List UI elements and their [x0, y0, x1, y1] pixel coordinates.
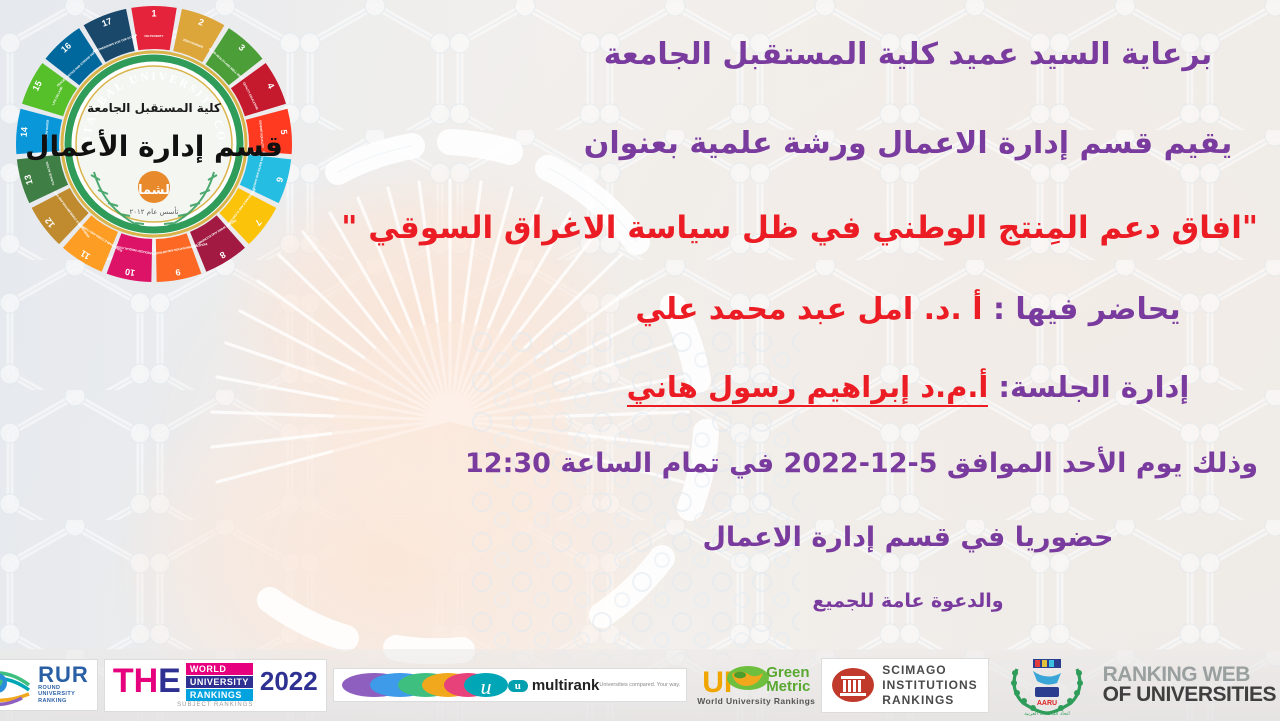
logo-scimago-institutions-rankings: SCIMAGO INSTITUTIONS RANKINGS: [821, 658, 988, 713]
sponsor-line: برعاية السيد عميد كلية المستقبل الجامعة: [558, 38, 1258, 73]
organizer-line: يقيم قسم إدارة الاعمال ورشة علمية بعنوان: [558, 127, 1258, 162]
multirank-subtitle: Universities compared. Your way.: [599, 682, 680, 688]
sdg-goal-number-1: 1: [151, 9, 156, 19]
poster-canvas: 1NO POVERTY2ZERO HUNGER3GOOD HEALTH AND …: [0, 0, 1280, 721]
logo-college-name-ar: كلية المستقبل الجامعة: [87, 101, 221, 115]
logo-founded-ar: تأسس عام ٢٠١٢: [129, 206, 178, 216]
lecturer-name: أ .د. امل عبد محمد علي: [635, 292, 982, 327]
rur-eye-globe-icon: [0, 663, 32, 707]
logo-round-university-ranking: RUR ROUND UNIVERSITY RANKING: [0, 659, 98, 711]
greenmetric-metric: Metric: [766, 680, 810, 694]
the-rank-word-2: UNIVERSITY: [186, 676, 253, 688]
ranking-logos-footer: RANKING WEB OF UNIVERSITIES: [0, 649, 1280, 721]
the-rank-word-3: RANKINGS: [186, 689, 253, 701]
logo-department-ar: قسم إدارة الأعمال: [25, 129, 283, 164]
the-letter-t: T: [113, 667, 134, 696]
greenmetric-subtitle: World University Rankings: [697, 696, 815, 706]
scimago-line1: SCIMAGO: [882, 663, 977, 678]
the-letter-e: E: [158, 667, 181, 696]
scimago-line3: RANKINGS: [882, 693, 977, 708]
aaru-arabic: اتحاد الجامعات العربية: [1024, 711, 1070, 717]
the-rank-word-1: WORLD: [186, 663, 253, 675]
ranking-web-line2: OF UNIVERSITIES: [1103, 685, 1276, 705]
venue-line: حضوريا في قسم إدارة الاعمال: [558, 522, 1258, 553]
the-subtitle: SUBJECT RANKINGS: [177, 702, 253, 708]
logo-ui-greenmetric: UI Green Metric World University Ranking…: [697, 665, 815, 706]
logo-aaru: AARU اتحاد الجامعات العربية: [1003, 653, 1091, 717]
rur-line3: RANKING: [38, 698, 89, 705]
ranking-web-line1: RANKING WEB: [1103, 665, 1276, 685]
aaru-acronym: AARU: [1037, 700, 1057, 707]
scimago-building-icon: [832, 664, 874, 706]
multirank-u-badge: u: [508, 680, 528, 692]
invitation-line: والدعوة عامة للجميع: [558, 591, 1258, 613]
chair-label: إدارة الجلسة:: [998, 370, 1189, 404]
logo-ranking-web-of-universities: RANKING WEB OF UNIVERSITIES: [1097, 665, 1276, 705]
multirank-color-arcs: u: [340, 672, 508, 698]
rur-line2: UNIVERSITY: [38, 691, 89, 698]
sdg-goal-label-1: NO POVERTY: [145, 34, 164, 38]
multirank-u-glyph: u: [480, 674, 491, 698]
university-logo: 1NO POVERTY2ZERO HUNGER3GOOD HEALTH AND …: [14, 4, 294, 284]
sdg-goal-number-10: 10: [124, 266, 136, 278]
logo-u-multirank: u u multirank Universities compared. You…: [333, 668, 688, 702]
aaru-wreath-icon: AARU اتحاد الجامعات العربية: [1003, 653, 1091, 717]
the-letter-h: H: [134, 667, 159, 696]
chair-name: أ.م.د إبراهيم رسول هاني: [627, 370, 989, 407]
logo-the-world-university-rankings: T H E WORLD UNIVERSITY RANKINGS 2022 SUB…: [104, 659, 327, 712]
the-year: 2022: [260, 670, 318, 692]
the-letters: T H E: [113, 667, 181, 696]
rur-line1: ROUND: [38, 685, 89, 692]
date-line: وذلك يوم الأحد الموافق 5-12-2022 في تمام…: [558, 448, 1258, 479]
lecturer-label: يحاضر فيها :: [993, 292, 1181, 327]
globe-icon: [726, 665, 770, 693]
workshop-title: "افاق دعم المِنتج الوطني في ظل سياسة الا…: [558, 211, 1258, 247]
rur-acronym: RUR: [38, 665, 89, 685]
lecturer-line: يحاضر فيها : أ .د. امل عبد محمد علي: [558, 293, 1258, 328]
scimago-line2: INSTITUTIONS: [882, 678, 977, 693]
multirank-name: multirank: [532, 677, 600, 694]
logo-inner-mark-ar: لشما: [138, 183, 170, 198]
announcement-text: برعاية السيد عميد كلية المستقبل الجامعة …: [558, 8, 1258, 638]
chair-line: إدارة الجلسة: أ.م.د إبراهيم رسول هاني: [558, 371, 1258, 404]
sdg-wheel-icon: 1NO POVERTY2ZERO HUNGER3GOOD HEALTH AND …: [14, 4, 294, 284]
